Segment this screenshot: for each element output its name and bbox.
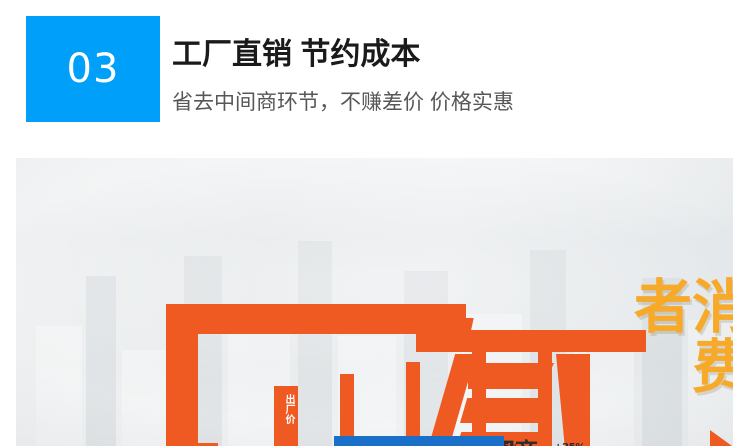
markup-tick xyxy=(472,350,486,446)
markup-label: +25% xyxy=(554,442,585,446)
page-title: 工厂直销 节约成本 xyxy=(172,40,420,70)
infographic-image: 出厂价 +25% +25% +25% +25% 总经销 代理商 批发商 零售商 … xyxy=(16,158,733,446)
page-subtitle: 省去中间商环节，不赚差价 价格实惠 xyxy=(172,92,514,113)
markup-tick xyxy=(538,338,552,446)
step-number-text: 03 xyxy=(67,46,120,92)
step-number-badge: 03 xyxy=(26,16,160,122)
markup-tick xyxy=(406,362,420,446)
section-header: 03 工厂直销 节约成本 省去中间商环节，不赚差价 价格实惠 xyxy=(0,0,748,150)
consumer-label: 消费者 xyxy=(628,276,733,446)
ex-factory-price-label: 出厂价 xyxy=(278,394,294,424)
